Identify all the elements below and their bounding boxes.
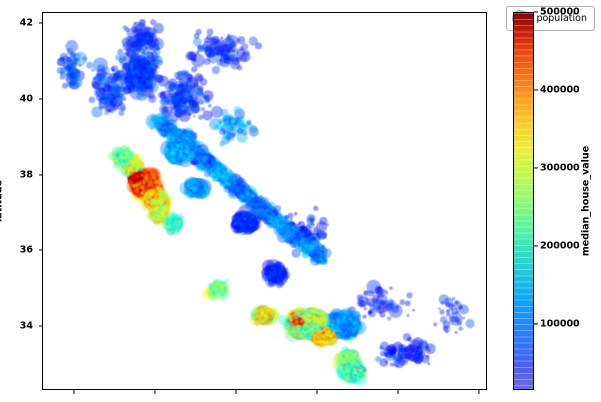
y-tick-mark <box>39 98 43 99</box>
colorbar <box>513 12 534 390</box>
colorbar-gradient <box>513 12 534 390</box>
y-axis-tick-labels: 3436384042 <box>0 0 33 402</box>
x-tick-mark <box>74 390 75 394</box>
y-axis-label: latitude <box>0 180 5 222</box>
x-tick-mark <box>317 390 318 394</box>
colorbar-segment-lines <box>514 13 533 389</box>
y-tick-mark <box>39 174 43 175</box>
y-tick-mark <box>39 325 43 326</box>
colorbar-tick-label: 100000 <box>534 318 580 329</box>
colorbar-tick-label: 500000 <box>534 7 580 18</box>
colorbar-tick-mark <box>534 323 538 324</box>
colorbar-tick-mark <box>534 11 538 12</box>
x-tick-mark <box>155 390 156 394</box>
colorbar-tick-label: 200000 <box>534 240 580 251</box>
y-tick-label: 42 <box>20 18 33 29</box>
colorbar-tick-label: 300000 <box>534 162 580 173</box>
y-tick-label: 38 <box>20 169 33 180</box>
y-tick-label: 36 <box>20 245 33 256</box>
plot-area <box>42 12 487 390</box>
colorbar-tick-mark <box>534 167 538 168</box>
colorbar-tick-mark <box>534 245 538 246</box>
colorbar-label: median_house_value <box>581 146 592 256</box>
y-tick-mark <box>39 250 43 251</box>
colorbar-tick-label: 400000 <box>534 84 580 95</box>
x-tick-mark <box>236 390 237 394</box>
x-tick-mark <box>397 390 398 394</box>
y-tick-mark <box>39 23 43 24</box>
x-tick-mark <box>478 390 479 394</box>
colorbar-tick-mark <box>534 89 538 90</box>
y-tick-label: 40 <box>20 93 33 104</box>
scatter-figure: 3436384042 latitude population median_ho… <box>0 0 601 402</box>
y-tick-label: 34 <box>20 320 33 331</box>
scatter-points-canvas <box>43 13 486 389</box>
